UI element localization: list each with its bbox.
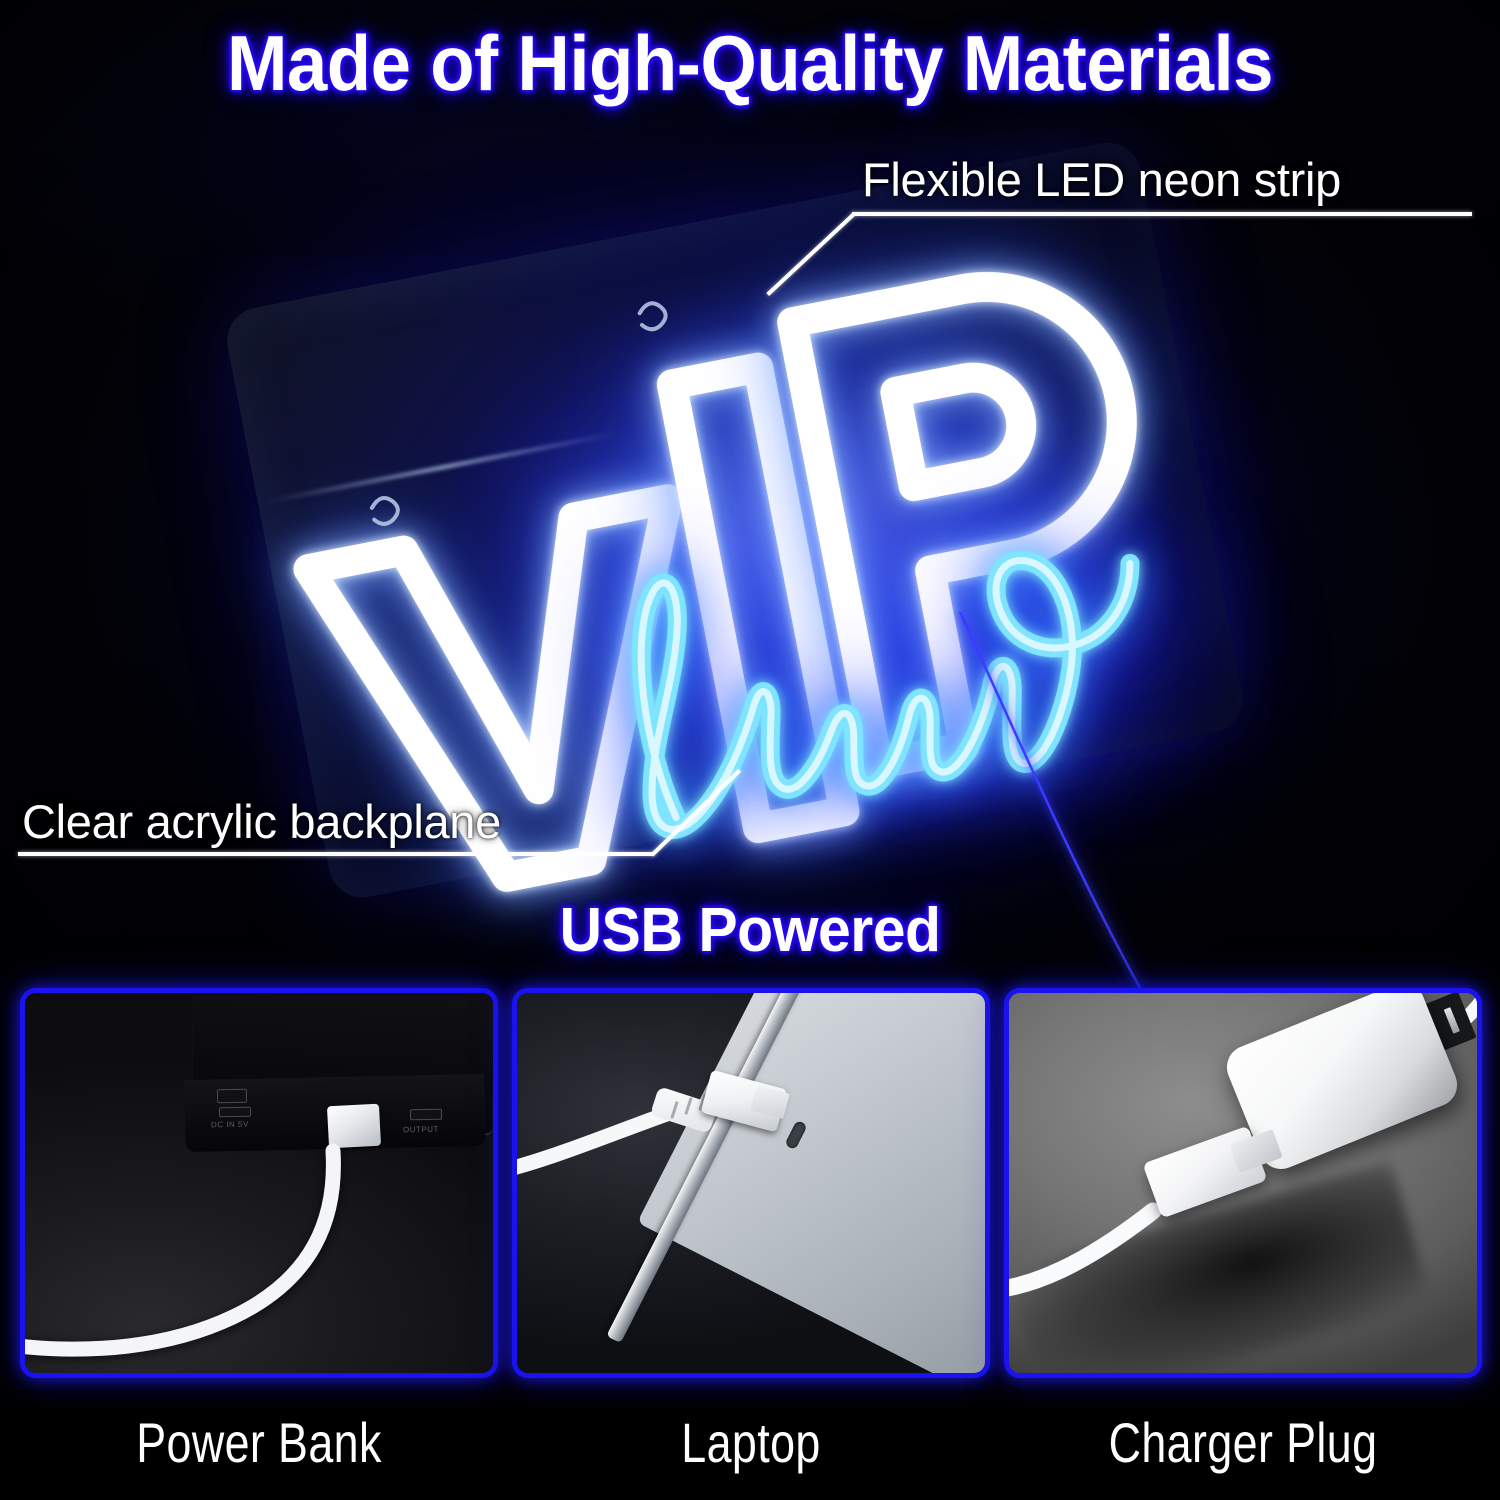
wall-prong xyxy=(1444,1007,1460,1034)
power-bank-label-dc-in: DC IN 5V xyxy=(211,1120,249,1130)
power-bank-port-b xyxy=(219,1107,251,1118)
panel-power-bank: DC IN 5V OUTPUT xyxy=(20,988,498,1378)
callout-underline-strip xyxy=(852,212,1472,216)
power-bank-label-output: OUTPUT xyxy=(403,1125,439,1135)
power-bank-port-a xyxy=(217,1089,247,1104)
power-bank-port-c xyxy=(410,1109,442,1121)
caption-charger-plug: Charger Plug xyxy=(1052,1410,1434,1475)
callout-underline-backplane xyxy=(18,852,654,856)
product-infographic: Made of High-Quality Materials USB Power… xyxy=(0,0,1500,1500)
page-title: Made of High-Quality Materials xyxy=(53,18,1448,109)
callout-flexible-led-neon-strip: Flexible LED neon strip xyxy=(862,152,1341,207)
panel-laptop xyxy=(512,988,990,1378)
caption-power-bank: Power Bank xyxy=(68,1410,450,1475)
caption-laptop: Laptop xyxy=(560,1410,942,1475)
panel-captions: Power Bank Laptop Charger Plug xyxy=(20,1410,1482,1475)
neon-sign-photo xyxy=(230,185,1260,865)
panel-charger-plug xyxy=(1004,988,1482,1378)
usb-powered-heading: USB Powered xyxy=(38,895,1463,966)
usb-power-source-panels: DC IN 5V OUTPUT xyxy=(20,988,1482,1378)
lounge-script-tubes xyxy=(230,185,1260,865)
usb-cable xyxy=(25,1141,405,1373)
callout-clear-acrylic-backplane: Clear acrylic backplane xyxy=(22,794,501,849)
